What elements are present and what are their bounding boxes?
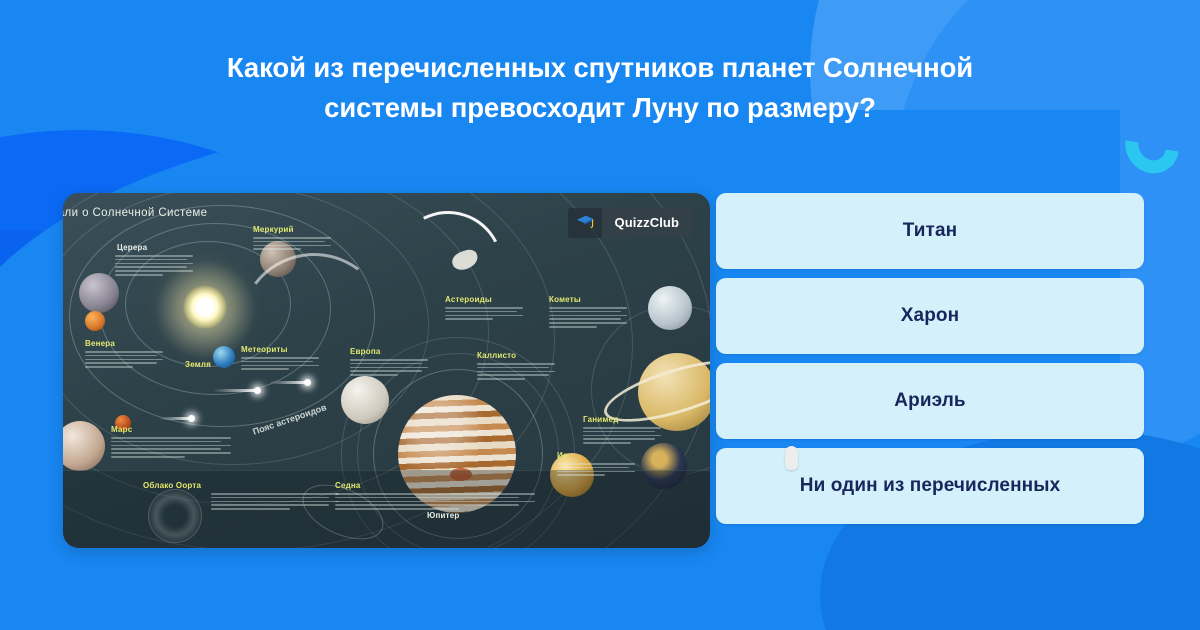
blurb-meteorites xyxy=(241,357,319,370)
label-io: Ио xyxy=(557,451,568,460)
question-line-1: Какой из перечисленных спутников планет … xyxy=(227,52,973,83)
label-ganymede: Ганимед xyxy=(583,415,618,424)
answer-options-list: Титан Харон Ариэль Ни один из перечислен… xyxy=(716,193,1144,524)
infographic-title: нали о Солнечной Системе xyxy=(63,207,207,219)
label-meteorites: Метеориты xyxy=(241,345,288,354)
blurb-mercury xyxy=(253,237,331,250)
answer-option-2-label: Харон xyxy=(901,305,959,327)
answer-option-2[interactable]: Харон xyxy=(716,278,1144,354)
label-venus: Венера xyxy=(85,339,115,348)
blurb-callisto xyxy=(477,363,555,380)
blurb-io xyxy=(557,463,635,476)
planet-venus xyxy=(85,311,105,331)
quizzclub-logo[interactable]: QuizzClub xyxy=(568,208,692,238)
label-jupiter: Юпитер xyxy=(427,511,459,520)
label-sedna: Седна xyxy=(335,481,361,490)
moon-callisto xyxy=(648,286,692,330)
cursor-pointer xyxy=(785,446,798,470)
main-content: нали о Солнечной Системе Церера Меркурий… xyxy=(0,175,1200,630)
quizzclub-logo-text: QuizzClub xyxy=(602,208,692,238)
label-asteroids: Астероиды xyxy=(445,295,492,304)
blurb-mars xyxy=(111,437,231,458)
label-mercury: Меркурий xyxy=(253,225,294,234)
label-europa: Европа xyxy=(350,347,381,356)
blurb-asteroids xyxy=(445,307,523,320)
label-mars: Марс xyxy=(111,425,132,434)
answer-option-4-label: Ни один из перечисленных xyxy=(800,475,1061,497)
solar-system-infographic[interactable]: нали о Солнечной Системе Церера Меркурий… xyxy=(63,193,710,548)
answer-option-3-label: Ариэль xyxy=(894,390,965,412)
blurb-ceres xyxy=(115,255,193,276)
question-header: Какой из перечисленных спутников планет … xyxy=(0,0,1200,175)
label-ceres: Церера xyxy=(117,243,147,252)
page-title: Какой из перечисленных спутников планет … xyxy=(227,48,973,128)
answer-option-1-label: Титан xyxy=(903,220,957,242)
blurb-sedna xyxy=(335,493,535,510)
label-callisto: Каллисто xyxy=(477,351,516,360)
question-line-2: системы превосходит Луну по размеру? xyxy=(324,92,876,123)
blurb-comets xyxy=(549,307,627,328)
meteor-streak xyxy=(159,417,193,420)
blurb-oort-cloud xyxy=(211,493,339,510)
blurb-ganymede xyxy=(583,427,661,444)
graduation-cap-glyph xyxy=(575,214,595,232)
graduation-cap-icon xyxy=(568,208,602,238)
label-oort-cloud: Облако Оорта xyxy=(143,481,201,490)
answer-option-4[interactable]: Ни один из перечисленных xyxy=(716,448,1144,524)
answer-option-1[interactable]: Титан xyxy=(716,193,1144,269)
meteor-streak xyxy=(213,389,259,392)
blurb-venus xyxy=(85,351,163,368)
label-earth: Земля xyxy=(185,360,211,369)
answer-option-3[interactable]: Ариэль xyxy=(716,363,1144,439)
planet-earth xyxy=(213,346,235,368)
planet-ceres xyxy=(79,273,119,313)
label-comets: Кометы xyxy=(549,295,581,304)
blurb-europa xyxy=(350,359,428,376)
sun xyxy=(183,285,227,329)
